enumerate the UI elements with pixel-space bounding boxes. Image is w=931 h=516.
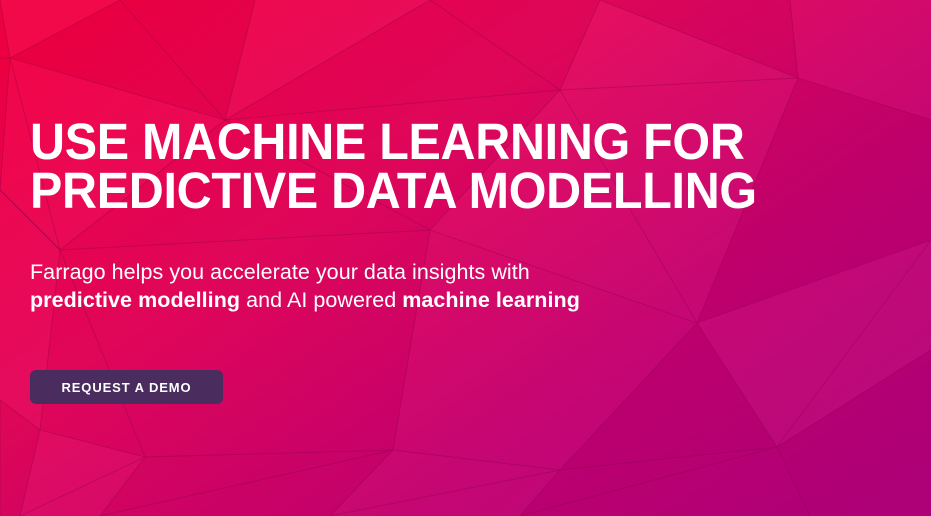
subheading-emphasis-machine-learning: machine learning xyxy=(402,288,580,312)
subheading-text-part2: and AI powered xyxy=(240,288,402,312)
subheading-emphasis-predictive-modelling: predictive modelling xyxy=(30,288,240,312)
subheading-text-part1: Farrago helps you accelerate your data i… xyxy=(30,260,530,284)
hero-content: Use machine learning for predictive data… xyxy=(30,0,850,516)
hero-banner: Use machine learning for predictive data… xyxy=(0,0,931,516)
page-title: Use machine learning for predictive data… xyxy=(30,117,757,215)
request-a-demo-button[interactable]: REQUEST A DEMO xyxy=(30,370,223,404)
hero-subheading: Farrago helps you accelerate your data i… xyxy=(30,258,630,314)
